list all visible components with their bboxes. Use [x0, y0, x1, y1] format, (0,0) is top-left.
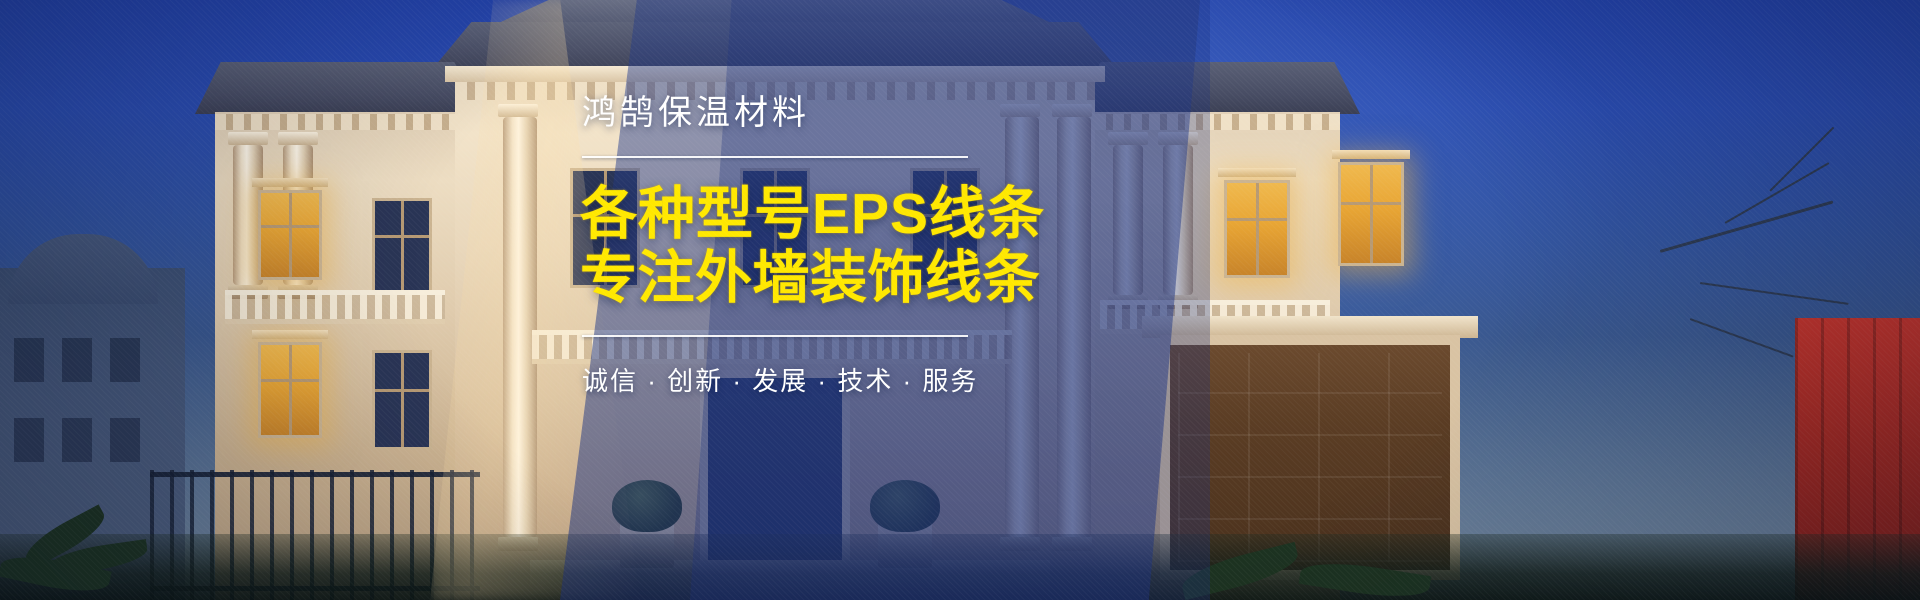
window-mullion	[289, 345, 292, 435]
brand-name: 鸿鹄保温材料	[582, 96, 1000, 130]
background-window	[62, 338, 92, 382]
lit-window	[258, 190, 322, 280]
window-hood	[252, 330, 328, 339]
window-mullion	[401, 201, 404, 291]
left-wing-roof	[195, 62, 480, 114]
window-hood	[252, 178, 328, 187]
window-transom	[375, 235, 429, 238]
promo-banner: 鸿鹄保温材料 各种型号EPS线条 专注外墙装饰线条 诚信 · 创新 · 发展 ·…	[0, 0, 1920, 600]
banner-content: 鸿鹄保温材料 各种型号EPS线条 专注外墙装饰线条 诚信 · 创新 · 发展 ·…	[580, 96, 1000, 398]
tagline: 诚信 · 创新 · 发展 · 技术 · 服务	[582, 361, 1000, 398]
window-transom	[261, 225, 319, 228]
balustrade	[225, 290, 445, 324]
column-capital	[278, 132, 318, 145]
window-mullion	[401, 353, 404, 447]
background-window	[62, 418, 92, 462]
window-transom	[261, 379, 319, 382]
headline-line-1: 各种型号EPS线条	[580, 184, 1000, 246]
divider-top	[582, 156, 968, 158]
background-window	[14, 418, 44, 462]
divider-bottom	[582, 335, 968, 337]
window-mullion	[289, 193, 292, 277]
window-hood	[1332, 150, 1410, 159]
lit-window	[1224, 180, 1290, 278]
dark-window	[372, 350, 432, 450]
dark-window	[372, 198, 432, 294]
window-transom	[375, 389, 429, 392]
window-transom	[1341, 202, 1401, 205]
fence-rail	[150, 472, 480, 477]
left-wing-dentil	[215, 114, 460, 130]
window-mullion	[1256, 183, 1259, 275]
lit-window	[258, 342, 322, 438]
window-transom	[1227, 218, 1287, 221]
window-mullion	[1370, 165, 1373, 263]
lit-window	[1338, 162, 1404, 266]
window-hood	[1218, 168, 1296, 177]
column-capital	[228, 132, 268, 145]
background-window	[14, 338, 44, 382]
headline-line-2: 专注外墙装饰线条	[580, 248, 1000, 310]
garage-panel-grid	[1178, 353, 1442, 562]
